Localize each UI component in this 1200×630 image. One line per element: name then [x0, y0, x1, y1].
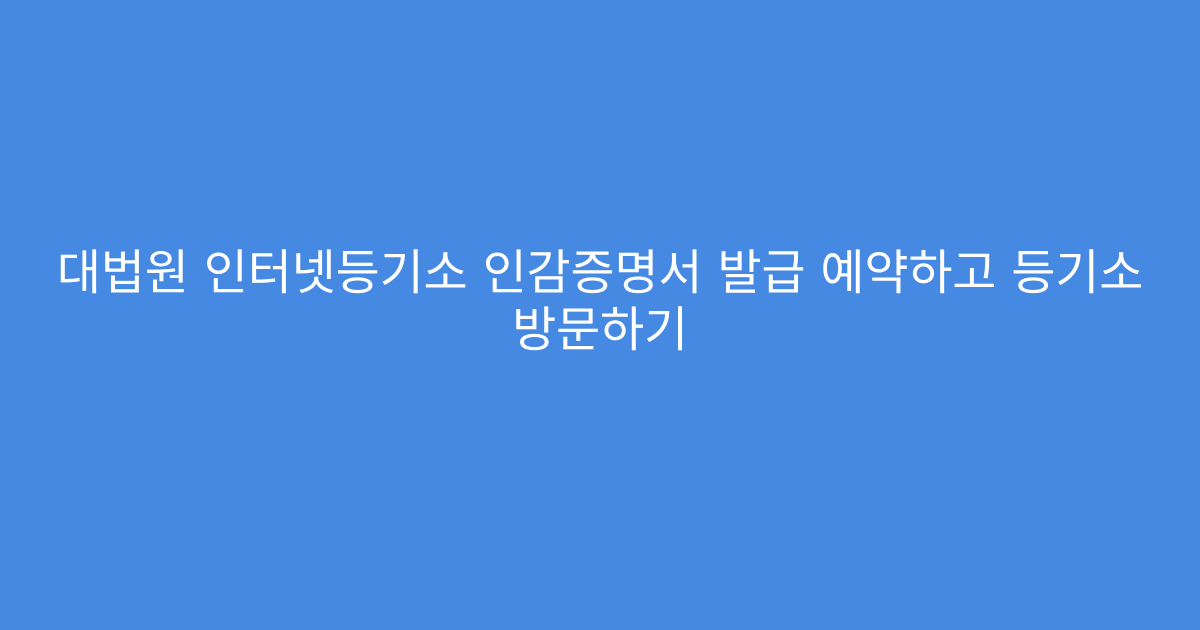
card-title: 대법원 인터넷등기소 인감증명서 발급 예약하고 등기소 방문하기 [40, 245, 1160, 359]
share-card: 대법원 인터넷등기소 인감증명서 발급 예약하고 등기소 방문하기 [0, 0, 1200, 630]
card-content: 대법원 인터넷등기소 인감증명서 발급 예약하고 등기소 방문하기 [0, 245, 1200, 359]
